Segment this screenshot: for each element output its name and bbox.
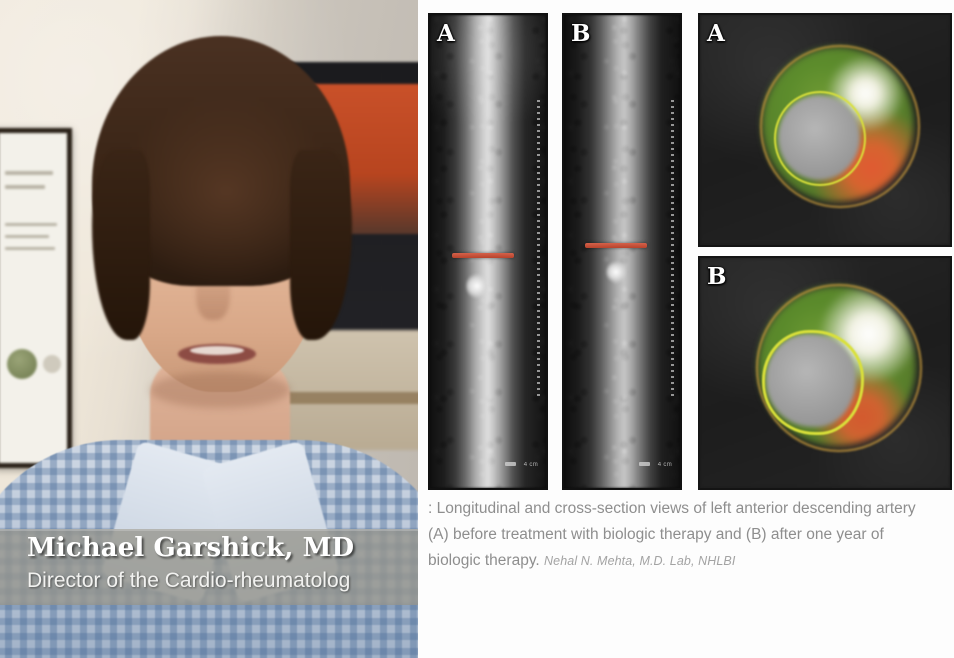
figure-caption: : Longitudinal and cross-section views o… bbox=[428, 496, 940, 574]
panel-label-b: B bbox=[571, 20, 590, 47]
measurement-marker bbox=[585, 243, 647, 248]
chin-shadow bbox=[150, 372, 290, 408]
speaker-name: Michael Garshick, MD bbox=[27, 533, 354, 563]
lumen-contour bbox=[774, 91, 866, 186]
scale-ruler bbox=[537, 100, 540, 400]
banner-divider bbox=[0, 529, 418, 531]
image-noise-texture bbox=[430, 15, 546, 488]
panel-label-a: A bbox=[437, 20, 455, 47]
panel-label-cross-b: B bbox=[707, 263, 726, 290]
cross-section-panel-a[interactable]: A bbox=[698, 13, 952, 247]
scale-label: 4 cm bbox=[658, 462, 672, 468]
panel-label-cross-a: A bbox=[707, 20, 725, 47]
hair-side-right bbox=[290, 150, 352, 340]
lower-third-banner: Michael Garshick, MD Director of the Car… bbox=[0, 529, 418, 605]
calcification-spot bbox=[606, 261, 626, 283]
scale-ruler bbox=[671, 100, 674, 400]
calcification-spot bbox=[466, 273, 488, 299]
measurement-marker bbox=[452, 253, 514, 258]
hair-side-left bbox=[92, 150, 150, 340]
scale-label: 4 cm bbox=[524, 462, 538, 468]
cross-section-panel-b[interactable]: B bbox=[698, 256, 952, 490]
figure-image-group: 4 cm A 4 cm B A bbox=[428, 13, 948, 486]
screenshot-root: Michael Garshick, MD Director of the Car… bbox=[0, 0, 954, 658]
longitudinal-panel-b[interactable]: 4 cm B bbox=[562, 13, 682, 490]
caption-credit: Nehal N. Mehta, M.D. Lab, NHLBI bbox=[544, 554, 735, 568]
image-noise-texture bbox=[564, 15, 680, 488]
figure-panel: 4 cm A 4 cm B A bbox=[418, 0, 954, 658]
speaker-title: Director of the Cardio-rheumatolog bbox=[27, 569, 350, 593]
video-frame[interactable]: Michael Garshick, MD Director of the Car… bbox=[0, 0, 418, 658]
scale-bar bbox=[505, 462, 516, 466]
lumen-contour bbox=[762, 330, 864, 435]
scale-bar bbox=[639, 462, 650, 466]
longitudinal-panel-a[interactable]: 4 cm A bbox=[428, 13, 548, 490]
teeth bbox=[190, 346, 244, 355]
